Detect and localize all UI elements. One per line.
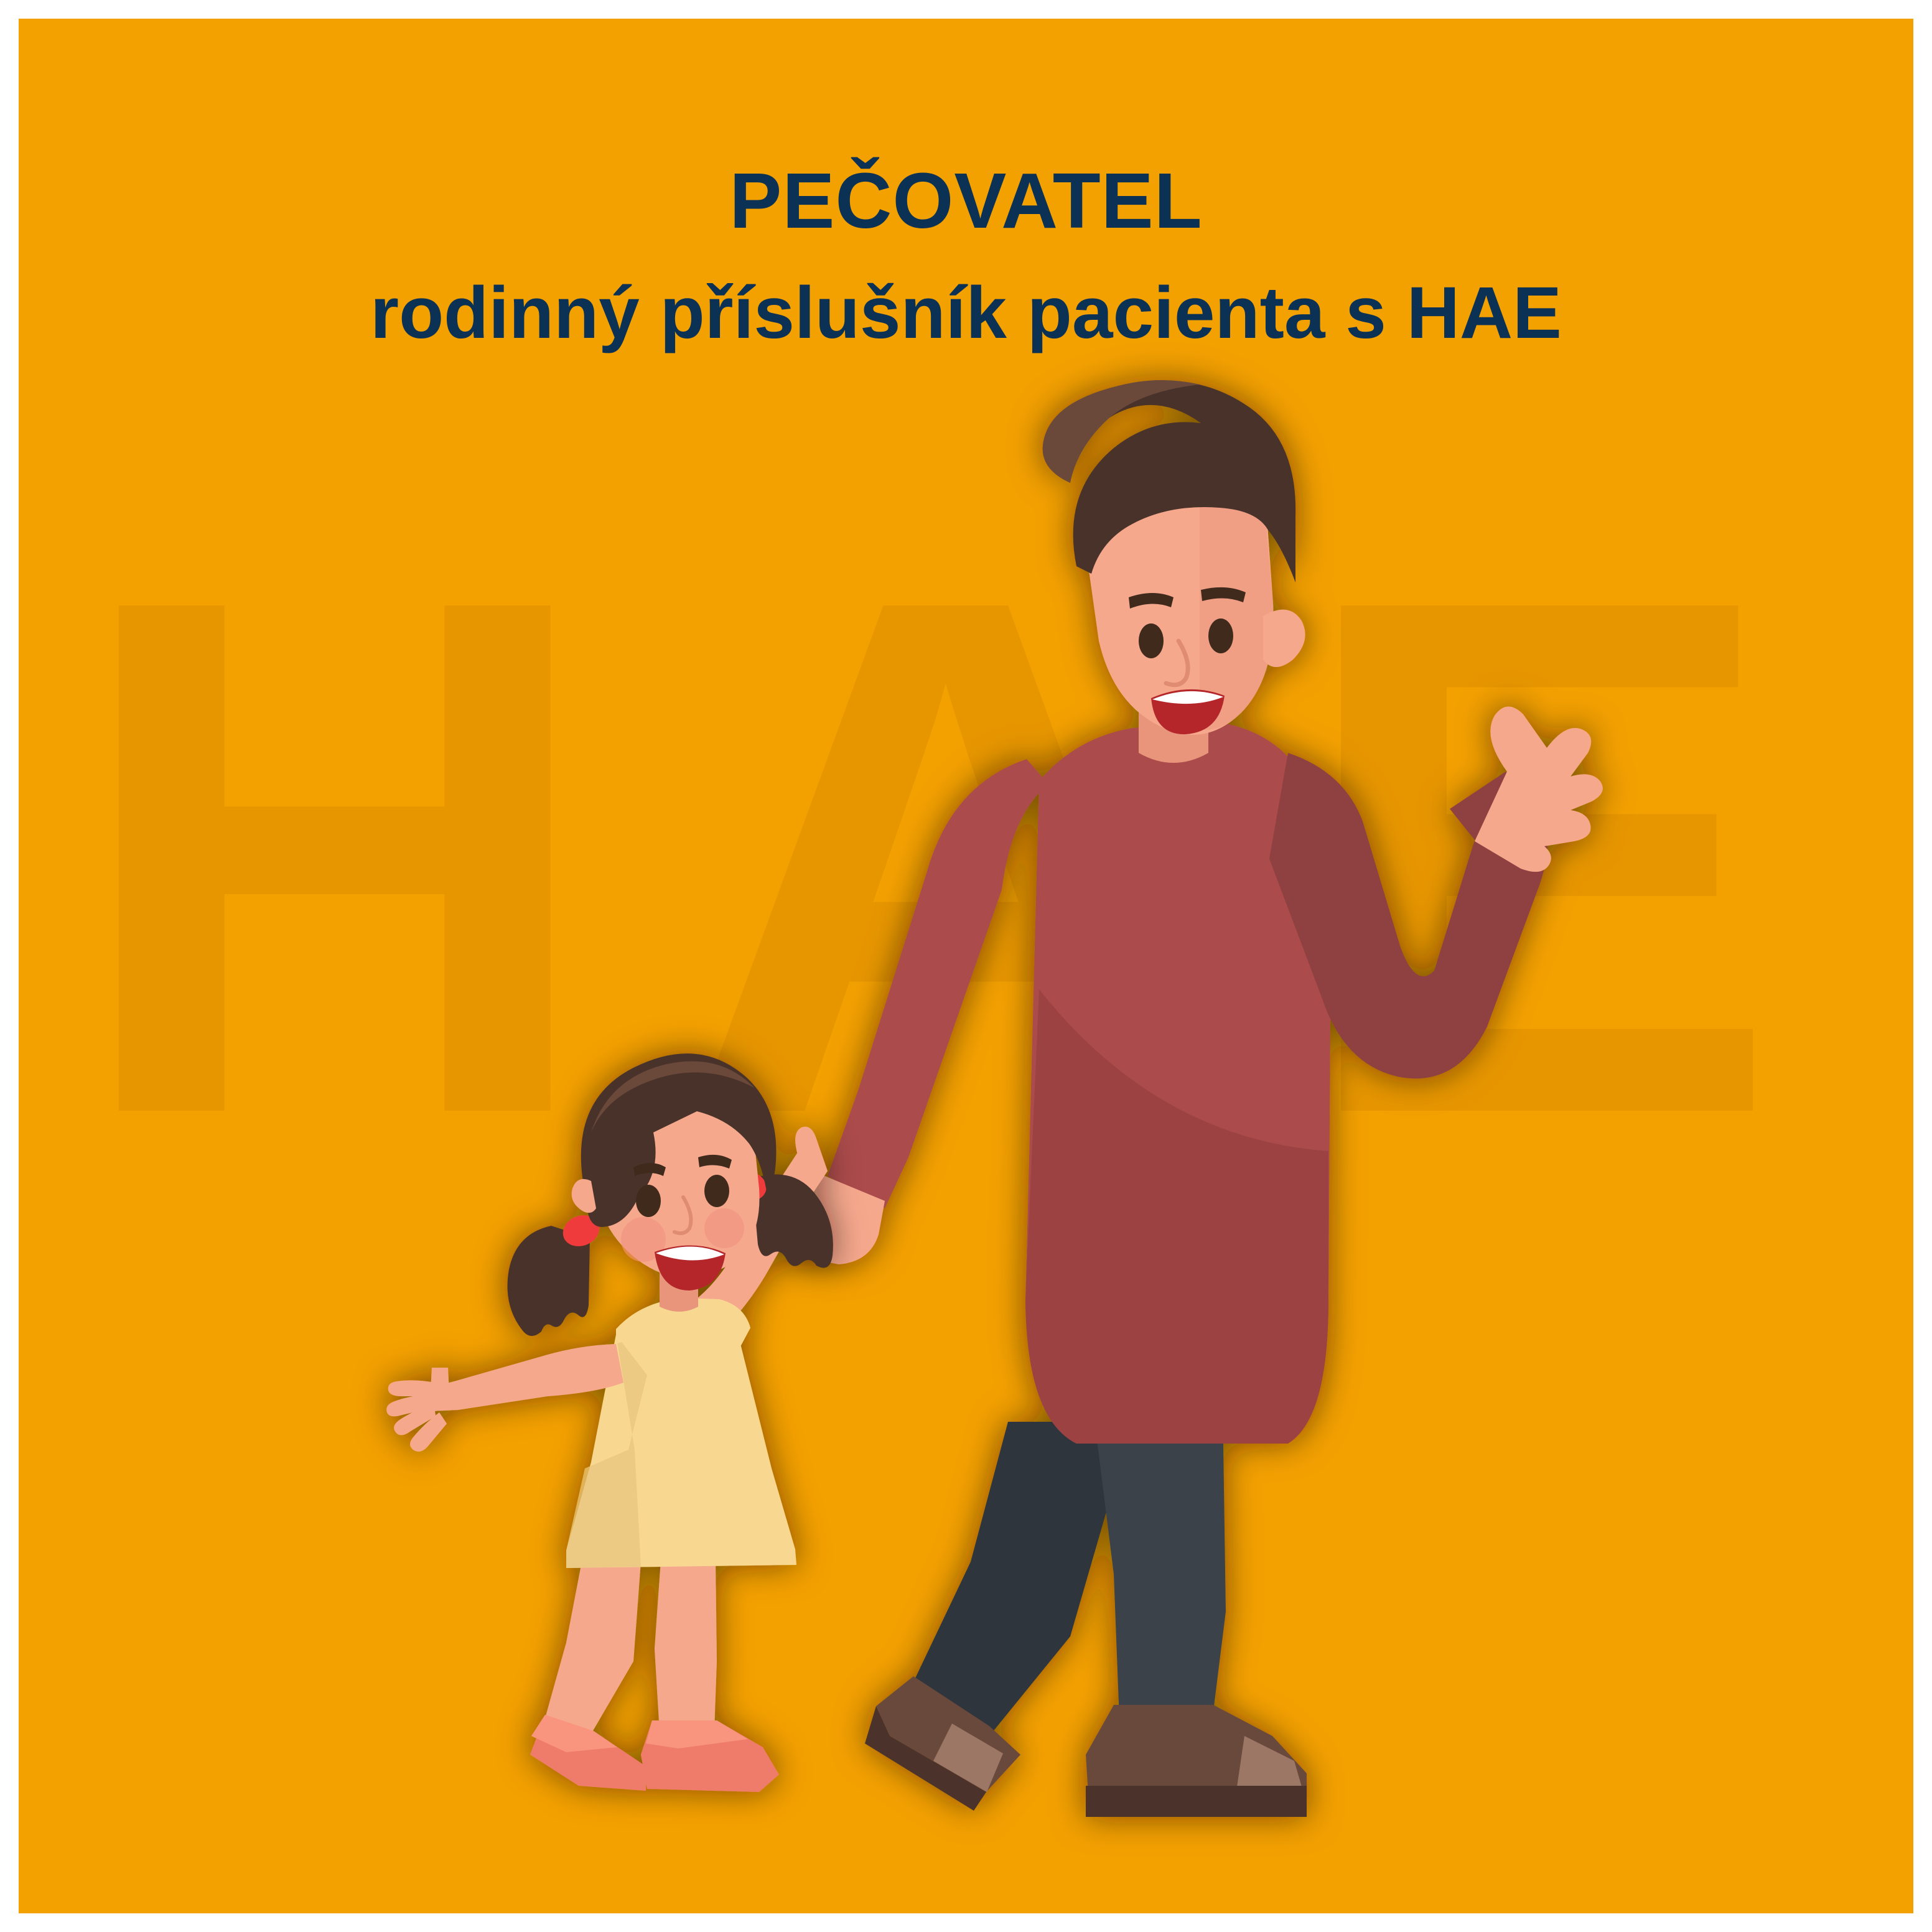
- poster-card: HAE: [19, 19, 1913, 1913]
- title-block: PEČOVATEL rodinný příslušník pacienta s …: [19, 162, 1913, 350]
- man-back-leg: [908, 1422, 1132, 1736]
- girl-figure: [386, 1053, 833, 1792]
- girl-back-leg: [544, 1562, 641, 1736]
- girl-front-leg: [655, 1561, 717, 1731]
- man-right-eye: [1208, 618, 1233, 653]
- girl-right-cheek: [704, 1208, 744, 1248]
- page-subtitle-abbrev: HAE: [1407, 272, 1562, 354]
- page-subtitle-prefix: rodinný příslušník pacienta s: [370, 272, 1407, 354]
- girl-left-thumb: [431, 1368, 449, 1394]
- page-title: PEČOVATEL: [19, 162, 1913, 240]
- girl-left-arm: [431, 1344, 623, 1411]
- girl-left-eye: [636, 1185, 661, 1217]
- man-ear: [1263, 610, 1305, 667]
- man-left-arm-sleeve: [828, 759, 1048, 1208]
- man-left-eye: [1139, 623, 1164, 658]
- man-front-leg: [1092, 1400, 1226, 1736]
- girl-left-hand-finger1: [388, 1380, 434, 1396]
- man-figure: [773, 380, 1602, 1817]
- man-front-shoe-sole: [1086, 1786, 1307, 1817]
- girl-right-eye: [704, 1175, 729, 1207]
- page-subtitle: rodinný příslušník pacienta s HAE: [19, 276, 1913, 350]
